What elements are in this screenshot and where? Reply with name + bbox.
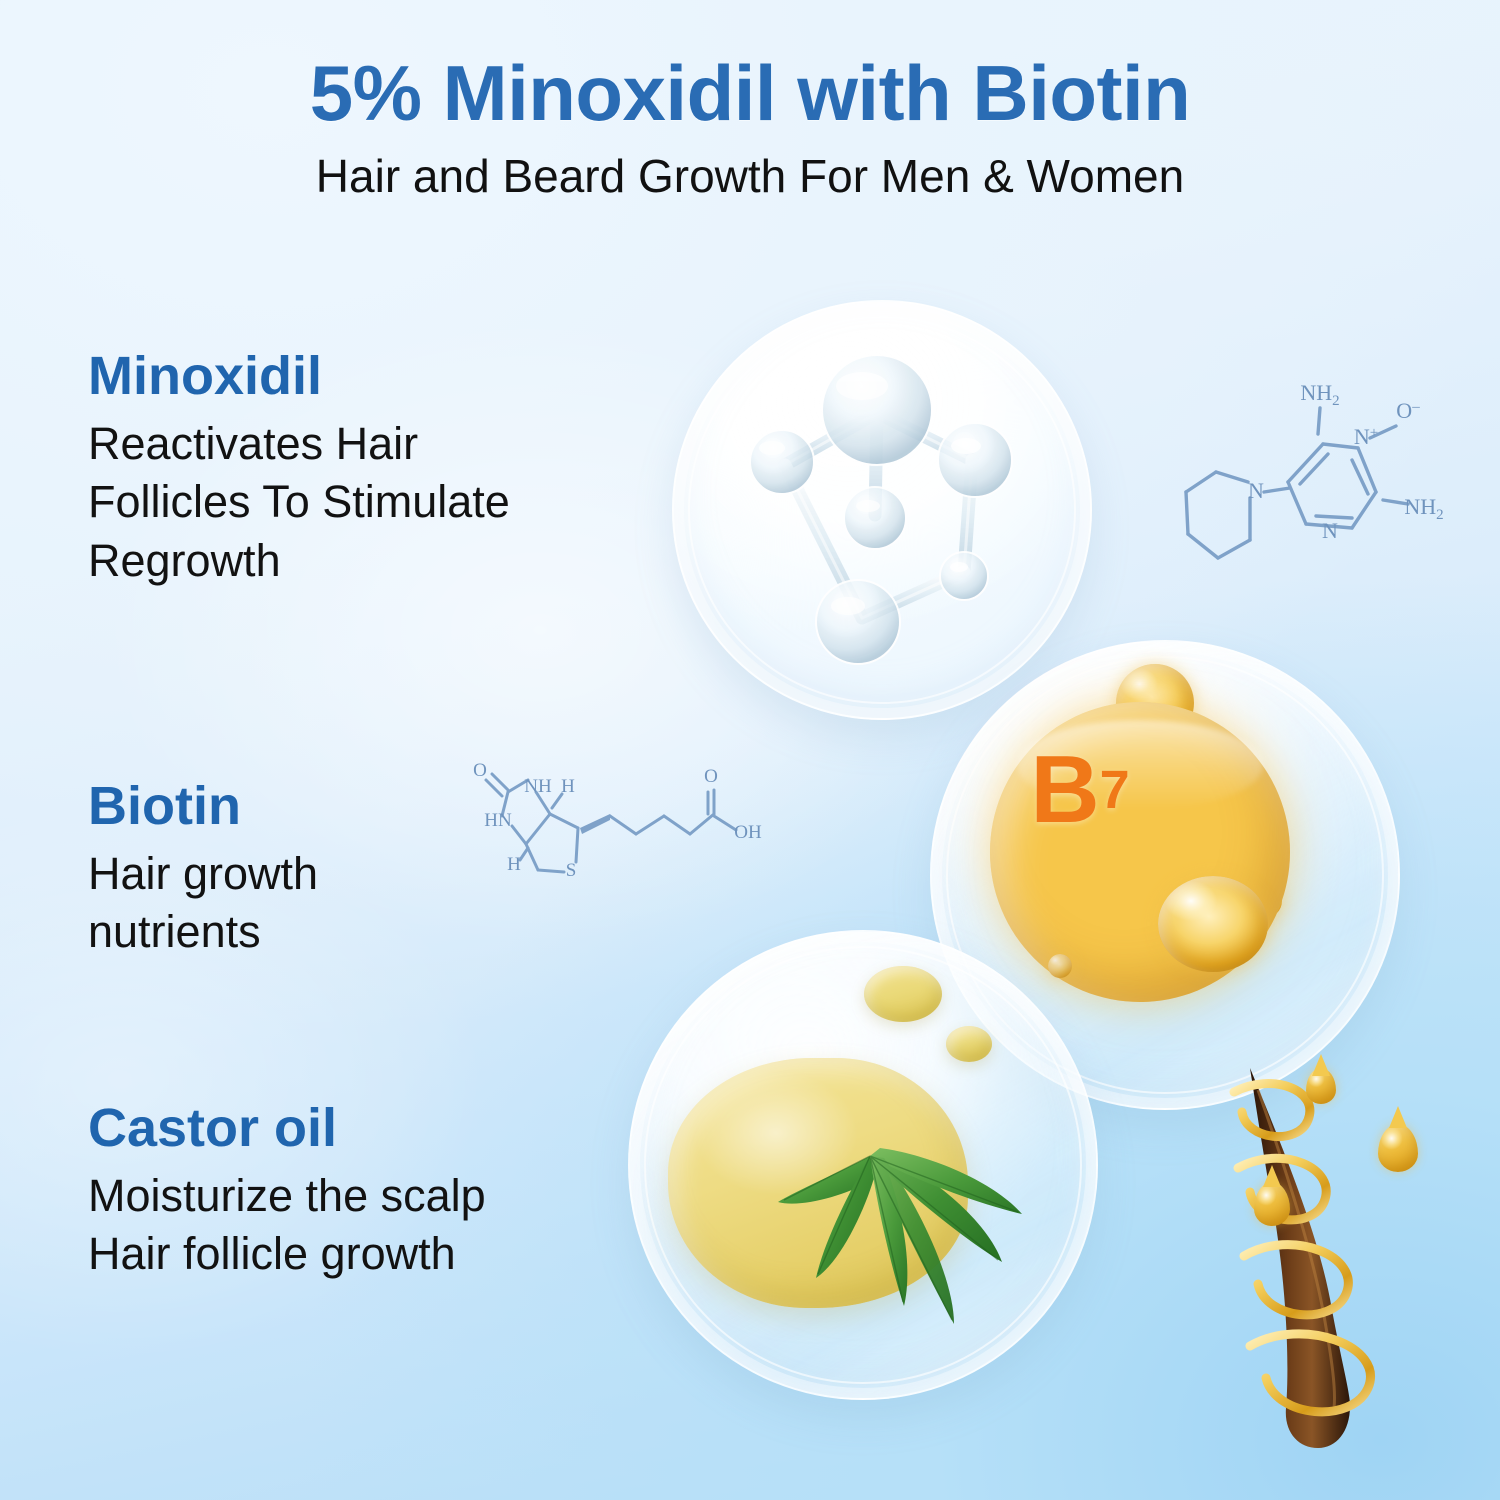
label-o-minus: O– <box>1396 398 1420 423</box>
feature-line: nutrients <box>88 903 688 962</box>
oil-droplet-blob <box>946 1026 992 1062</box>
feature-line: Reactivates Hair <box>88 415 688 474</box>
feature-body: Moisturize the scalp Hair follicle growt… <box>88 1167 688 1284</box>
feature-line: Moisturize the scalp <box>88 1167 688 1226</box>
minoxidil-skeletal-formula: NH2 O– N+ NH2 N N <box>1168 352 1498 602</box>
feature-minoxidil: Minoxidil Reactivates Hair Follicles To … <box>88 348 688 590</box>
hair-strand-with-oil-spiral <box>1228 1060 1500 1460</box>
feature-heading: Castor oil <box>88 1100 688 1157</box>
oil-bubble-small <box>1048 954 1072 978</box>
feature-body: Reactivates Hair Follicles To Stimulate … <box>88 415 688 591</box>
feature-line: Hair follicle growth <box>88 1225 688 1284</box>
label-nh2-right: NH2 <box>1404 494 1443 523</box>
label-ring-n: N <box>1322 518 1338 543</box>
feature-body: Hair growth nutrients <box>88 845 688 962</box>
feature-line: Regrowth <box>88 532 688 591</box>
oil-droplet <box>1306 1068 1336 1104</box>
feature-castor-oil: Castor oil Moisturize the scalp Hair fol… <box>88 1100 688 1284</box>
feature-heading: Minoxidil <box>88 348 688 405</box>
oil-bubble-large <box>1158 876 1268 972</box>
feature-biotin: Biotin Hair growth nutrients <box>88 778 688 962</box>
feature-line: Hair growth <box>88 845 688 904</box>
page-title: 5% Minoxidil with Biotin <box>0 54 1500 132</box>
label-nh2-top: NH2 <box>1300 380 1339 409</box>
label-acid-oh: OH <box>734 822 762 843</box>
b7-letter: B <box>1030 735 1099 845</box>
page-subtitle: Hair and Beard Growth For Men & Women <box>0 152 1500 200</box>
label-acid-o: O <box>704 766 718 787</box>
label-piperidine-n: N <box>1248 478 1264 503</box>
oil-droplet-blob <box>864 966 942 1022</box>
castor-oil-petri-dish <box>628 930 1098 1400</box>
feature-line: Follicles To Stimulate <box>88 473 688 532</box>
label-n-plus: N+ <box>1354 424 1378 449</box>
header: 5% Minoxidil with Biotin Hair and Beard … <box>0 0 1500 200</box>
feature-heading: Biotin <box>88 778 688 835</box>
hemp-leaf-icon <box>778 1110 1108 1410</box>
